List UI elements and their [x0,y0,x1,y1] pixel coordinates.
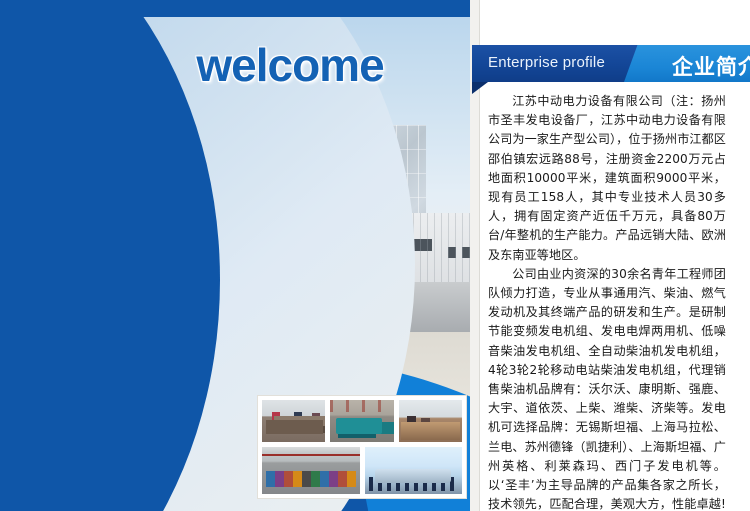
assembly-line-photo [261,446,361,495]
profile-paragraph-1: 江苏中动电力设备有限公司（注：扬州市圣丰发电设备厂，江苏中动电力设备有限公司为一… [488,92,726,265]
company-profile-page: 中动电力 江苏中动电力设备有限公司 Jiangsu Zhongdong Powe… [0,0,750,511]
photo-collage [258,396,466,498]
reception-office-photo [398,399,463,443]
profile-panel: Enterprise profile 企业简介 江苏中动电力设备有限公司（注：扬… [470,0,750,511]
hero-section: 中动电力 江苏中动电力设备有限公司 Jiangsu Zhongdong Powe… [0,0,480,511]
office-staff-photo [261,399,326,443]
photo-row-top [261,399,463,443]
banner-title-chinese: 企业简介 [672,51,750,81]
profile-body-text: 江苏中动电力设备有限公司（注：扬州市圣丰发电设备厂，江苏中动电力设备有限公司为一… [488,92,726,511]
photo-row-bottom [261,446,463,495]
profile-paragraph-2: 公司由业内资深的30余名青年工程师团队倾力打造，专业从事通用汽、柴油、燃气发动机… [488,265,726,511]
conference-room-photo [364,446,464,495]
generator-workshop-photo [329,399,394,443]
top-navy-bar [0,0,480,17]
enterprise-profile-banner: Enterprise profile 企业简介 [472,45,750,82]
banner-title-english: Enterprise profile [488,54,605,71]
banner-corner-triangle-icon [472,82,488,94]
welcome-heading: welcome [140,38,440,92]
